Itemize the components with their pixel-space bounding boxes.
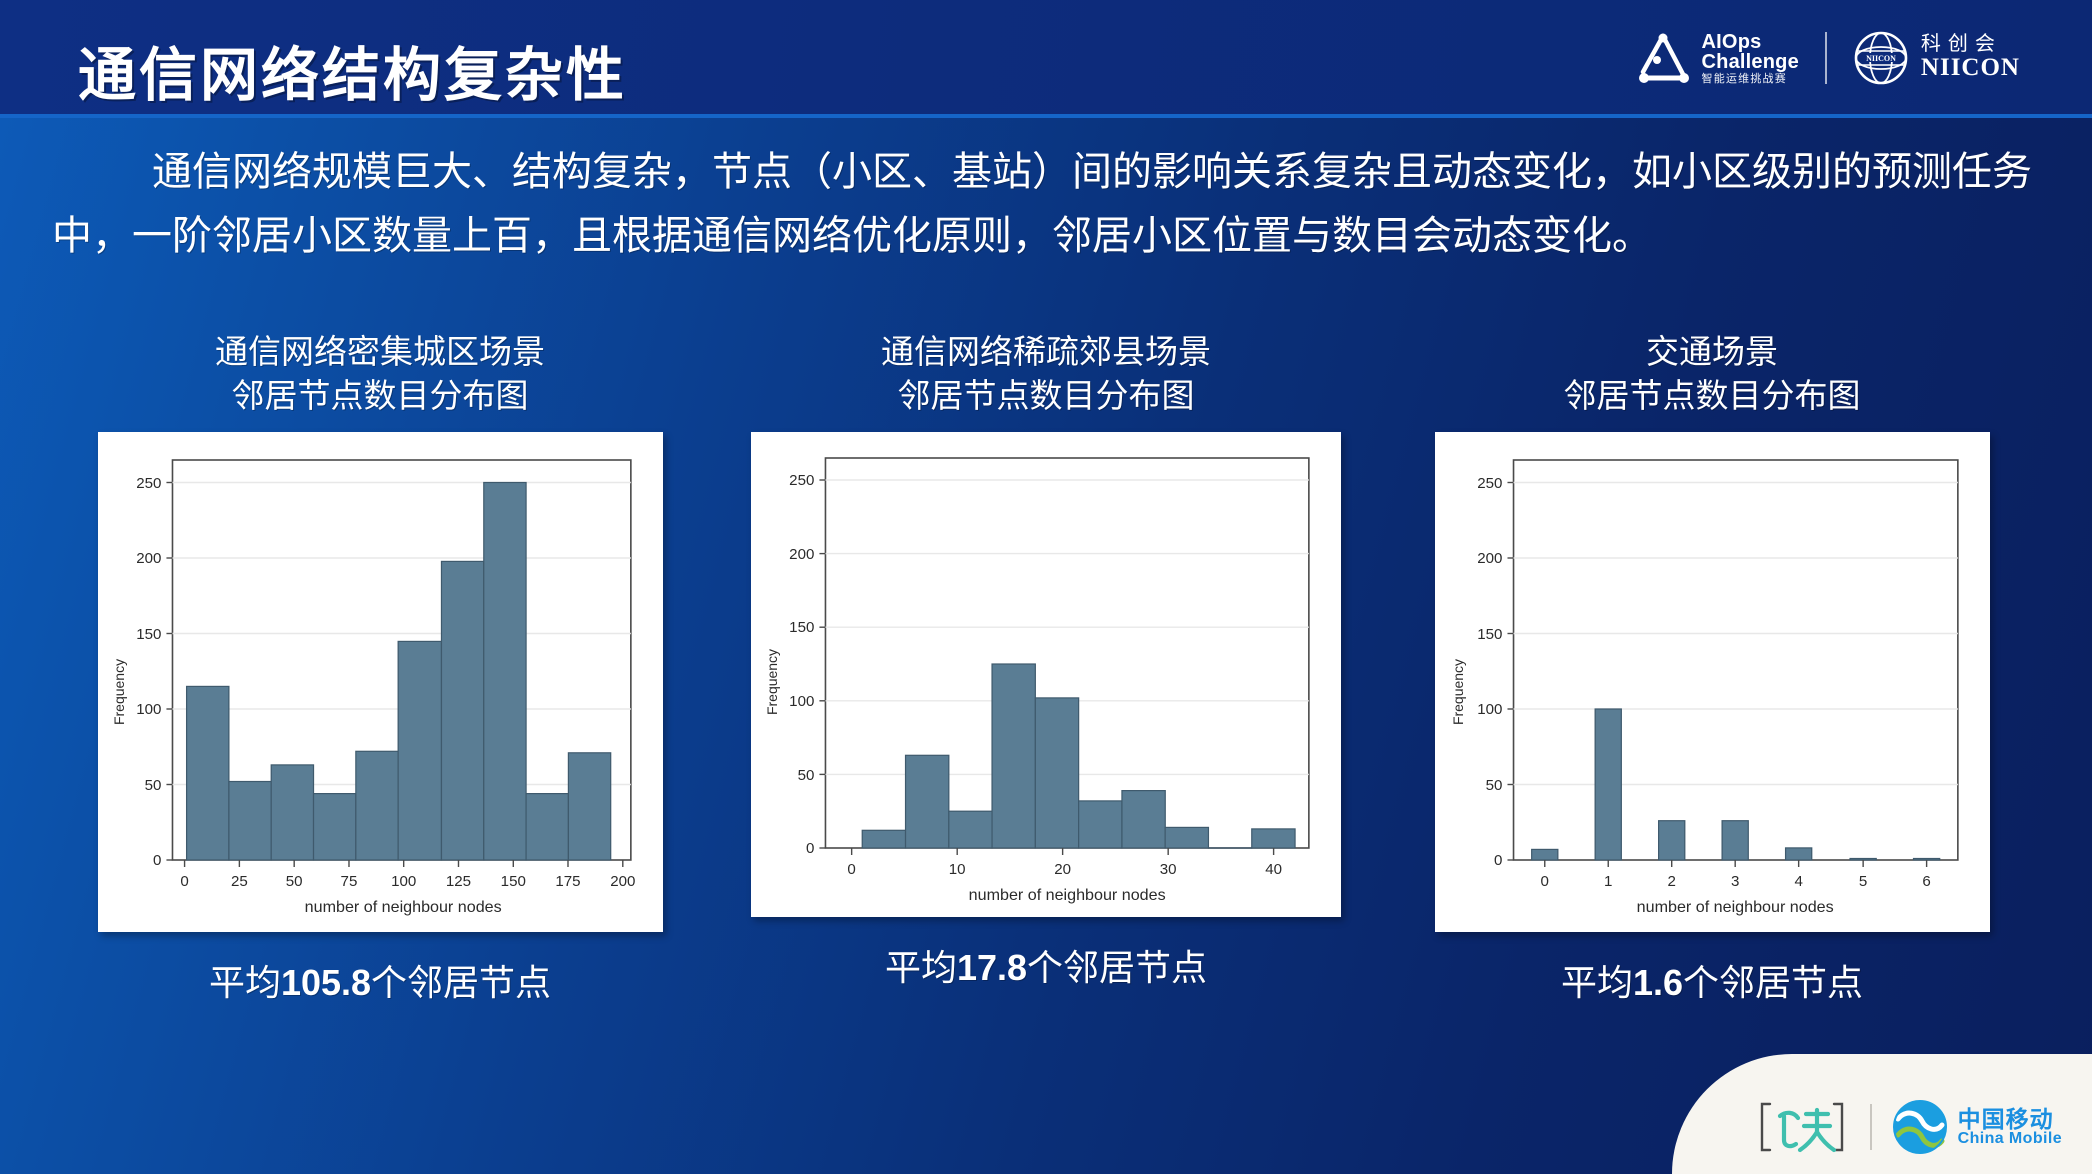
chart-1-xtick-200: 200 bbox=[610, 873, 635, 890]
chart-2-ytick-50: 50 bbox=[798, 767, 815, 784]
caption-prefix-2: 平均 bbox=[885, 947, 957, 988]
histogram-traffic: Frequency bbox=[1443, 442, 1978, 924]
chart-1-xtick-0: 0 bbox=[180, 873, 188, 890]
chart-3-xtick-0: 0 bbox=[1540, 873, 1548, 890]
caption-suffix-3: 个邻居节点 bbox=[1683, 962, 1863, 1003]
panel-caption-3: 平均1.6个邻居节点 bbox=[1561, 954, 1863, 1006]
chart-card-2: Frequency bbox=[751, 432, 1341, 917]
caption-prefix-1: 平均 bbox=[209, 962, 281, 1003]
chart-3-svg: Frequency bbox=[1443, 442, 1978, 924]
chart-2-xtick-40: 40 bbox=[1265, 861, 1282, 878]
footer-logos: 中国移动 China Mobile bbox=[1754, 1096, 2062, 1158]
chart-3-xtick-6: 6 bbox=[1922, 873, 1930, 890]
china-mobile-cn: 中国移动 bbox=[1958, 1107, 2062, 1131]
panel-caption-2: 平均17.8个邻居节点 bbox=[885, 939, 1207, 991]
panel-dense-urban: 通信网络密集城区场景 邻居节点数目分布图 Frequency bbox=[60, 330, 700, 1006]
chart-1-ytick-100: 100 bbox=[136, 701, 161, 718]
chart-1-ytick-0: 0 bbox=[153, 852, 161, 869]
chart-1-svg: Frequency bbox=[106, 442, 651, 924]
niicon-logo: NIICON 科创会 NIICON bbox=[1853, 30, 2020, 86]
china-mobile-logo: 中国移动 China Mobile bbox=[1892, 1099, 2062, 1155]
chart-3-xtick-3: 3 bbox=[1730, 873, 1738, 890]
slide: 通信网络结构复杂性 AIOps Challenge 智能运维挑战赛 bbox=[0, 0, 2092, 1174]
charts-row: 通信网络密集城区场景 邻居节点数目分布图 Frequency bbox=[0, 330, 2092, 1006]
aiops-logo-text: AIOps Challenge 智能运维挑战赛 bbox=[1702, 32, 1799, 85]
histogram-sparse-suburban: Frequency bbox=[759, 442, 1329, 909]
chart-3-ytick-150: 150 bbox=[1477, 626, 1502, 643]
niicon-logo-en: NIICON bbox=[1921, 55, 2020, 81]
china-mobile-mark-icon bbox=[1892, 1099, 1948, 1155]
aiops-logo-line3: 智能运维挑战赛 bbox=[1702, 74, 1799, 85]
chart-2-ytick-0: 0 bbox=[806, 840, 814, 857]
chart-3-ytick-100: 100 bbox=[1477, 701, 1502, 718]
china-mobile-en: China Mobile bbox=[1958, 1131, 2062, 1148]
chart-2-xtick-0: 0 bbox=[847, 861, 855, 878]
chart-card-3: Frequency bbox=[1435, 432, 1990, 932]
chart-3-ylabel: Frequency bbox=[1450, 659, 1466, 725]
chart-3-ytick-200: 200 bbox=[1477, 550, 1502, 567]
chart-2-xtick-30: 30 bbox=[1160, 861, 1177, 878]
chart-3-xtick-2: 2 bbox=[1667, 873, 1675, 890]
chart-3-xtick-4: 4 bbox=[1794, 873, 1802, 890]
chart-3-xtick-5: 5 bbox=[1858, 873, 1866, 890]
chart-1-ytick-200: 200 bbox=[136, 550, 161, 567]
chart-2-ytick-200: 200 bbox=[789, 546, 814, 563]
header-logo-group: AIOps Challenge 智能运维挑战赛 NIICON 科创会 NIICO… bbox=[1637, 27, 2020, 89]
china-mobile-text: 中国移动 China Mobile bbox=[1958, 1107, 2062, 1148]
jiutian-logo bbox=[1754, 1096, 1850, 1158]
body-paragraph: 通信网络规模巨大、结构复杂，节点（小区、基站）间的影响关系复杂且动态变化，如小区… bbox=[52, 140, 2048, 268]
chart-1-xtick-175: 175 bbox=[555, 873, 580, 890]
chart-3-ytick-0: 0 bbox=[1494, 852, 1502, 869]
chart-2-xtick-10: 10 bbox=[949, 861, 966, 878]
chart-1-xtick-50: 50 bbox=[285, 873, 302, 890]
chart-1-ytick-150: 150 bbox=[136, 626, 161, 643]
footer: 中国移动 China Mobile bbox=[1672, 1054, 2092, 1174]
panel-heading-2: 通信网络稀疏郊县场景 邻居节点数目分布图 bbox=[881, 330, 1211, 418]
chart-1-xtick-25: 25 bbox=[230, 873, 247, 890]
chart-2-ytick-100: 100 bbox=[789, 693, 814, 710]
chart-2-svg: Frequency bbox=[759, 442, 1329, 909]
chart-3-ytick-50: 50 bbox=[1485, 777, 1502, 794]
panel-heading-3: 交通场景 邻居节点数目分布图 bbox=[1564, 330, 1861, 418]
chart-1-xlabel: number of neighbour nodes bbox=[304, 898, 501, 916]
chart-2-ytick-150: 150 bbox=[789, 619, 814, 636]
chart-2-ytick-250: 250 bbox=[789, 472, 814, 489]
logo-divider bbox=[1825, 32, 1827, 84]
niicon-logo-text: 科创会 NIICON bbox=[1921, 34, 2020, 81]
aiops-logo-line2: Challenge bbox=[1702, 52, 1799, 72]
chart-1-xtick-125: 125 bbox=[445, 873, 470, 890]
caption-value-2: 17.8 bbox=[957, 947, 1027, 988]
chart-2-ylabel: Frequency bbox=[764, 649, 780, 715]
panel-sparse-suburban: 通信网络稀疏郊县场景 邻居节点数目分布图 Frequency bbox=[726, 330, 1366, 1006]
niicon-logo-cn: 科创会 bbox=[1921, 34, 2020, 55]
globe-icon: NIICON bbox=[1853, 30, 1909, 86]
aiops-logo-line1: AIOps bbox=[1702, 32, 1799, 52]
aiops-triangle-icon bbox=[1637, 32, 1691, 84]
chart-1-xtick-100: 100 bbox=[391, 873, 416, 890]
caption-prefix-3: 平均 bbox=[1561, 962, 1633, 1003]
aiops-challenge-logo: AIOps Challenge 智能运维挑战赛 bbox=[1637, 32, 1799, 85]
header-accent-rule bbox=[0, 114, 2092, 118]
chart-1-ytick-250: 250 bbox=[136, 475, 161, 492]
chart-3-xtick-1: 1 bbox=[1604, 873, 1612, 890]
footer-divider bbox=[1870, 1104, 1872, 1150]
chart-1-xtick-75: 75 bbox=[340, 873, 357, 890]
panel-caption-1: 平均105.8个邻居节点 bbox=[209, 954, 551, 1006]
caption-value-3: 1.6 bbox=[1633, 962, 1683, 1003]
chart-2-xlabel: number of neighbour nodes bbox=[969, 886, 1166, 904]
chart-1-ylabel: Frequency bbox=[111, 659, 127, 725]
caption-value-1: 105.8 bbox=[281, 962, 371, 1003]
caption-suffix-1: 个邻居节点 bbox=[371, 962, 551, 1003]
chart-3-ytick-250: 250 bbox=[1477, 475, 1502, 492]
page-title: 通信网络结构复杂性 bbox=[78, 28, 627, 112]
caption-suffix-2: 个邻居节点 bbox=[1027, 947, 1207, 988]
jiutian-calligraphy-icon bbox=[1754, 1096, 1850, 1158]
chart-1-ytick-50: 50 bbox=[144, 777, 161, 794]
panel-traffic: 交通场景 邻居节点数目分布图 Frequency bbox=[1392, 330, 2032, 1006]
chart-1-xtick-150: 150 bbox=[500, 873, 525, 890]
histogram-dense-urban: Frequency bbox=[106, 442, 651, 924]
svg-text:NIICON: NIICON bbox=[1866, 54, 1896, 63]
panel-heading-1: 通信网络密集城区场景 邻居节点数目分布图 bbox=[215, 330, 545, 418]
chart-3-xlabel: number of neighbour nodes bbox=[1636, 898, 1833, 916]
chart-card-1: Frequency bbox=[98, 432, 663, 932]
chart-2-xtick-20: 20 bbox=[1054, 861, 1071, 878]
